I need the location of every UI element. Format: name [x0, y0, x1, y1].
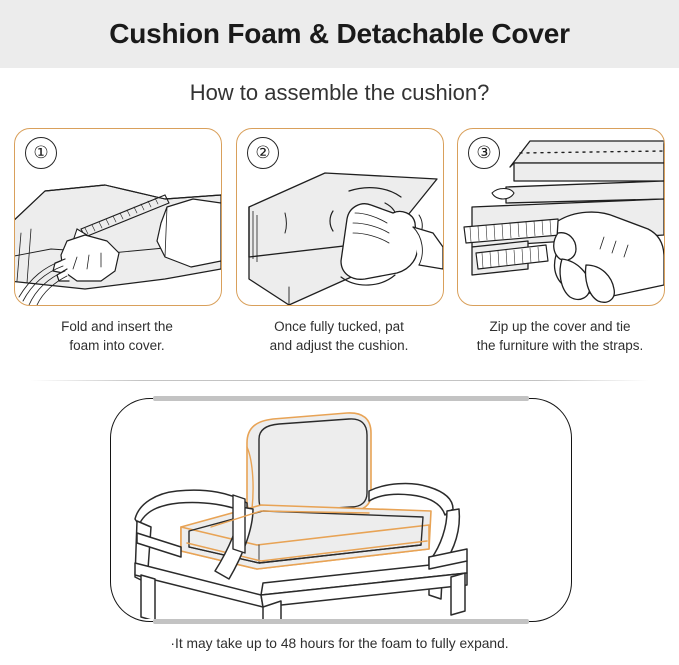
step-1: ① [14, 128, 222, 355]
page-title: Cushion Foam & Detachable Cover [109, 18, 570, 50]
assembly-steps: ① [0, 128, 679, 368]
showcase-bottom-edge [153, 619, 529, 624]
step-2-panel: ② [236, 128, 444, 306]
step-3-caption-line1: Zip up the cover and tie [457, 317, 663, 336]
step-3-caption: Zip up the cover and tie the furniture w… [457, 317, 663, 355]
section-subtitle: How to assemble the cushion? [0, 80, 679, 106]
step-3: ③ [457, 128, 665, 355]
step-1-caption-line1: Fold and insert the [14, 317, 220, 336]
step-1-panel: ① [14, 128, 222, 306]
step-1-caption-line2: foam into cover. [14, 336, 220, 355]
step-1-number: ① [25, 137, 57, 169]
showcase-panel [110, 398, 572, 622]
header-band: Cushion Foam & Detachable Cover [0, 0, 679, 68]
step-3-panel: ③ [457, 128, 665, 306]
step-3-caption-line2: the furniture with the straps. [457, 336, 663, 355]
step-3-number: ③ [468, 137, 500, 169]
step-1-caption: Fold and insert the foam into cover. [14, 317, 220, 355]
armchair-illustration [111, 399, 569, 619]
footer-note: ·It may take up to 48 hours for the foam… [0, 636, 679, 651]
step-2-caption-line1: Once fully tucked, pat [236, 317, 442, 336]
step-2-caption-line2: and adjust the cushion. [236, 336, 442, 355]
step-2-caption: Once fully tucked, pat and adjust the cu… [236, 317, 442, 355]
step-2: ② [236, 128, 444, 355]
step-2-number: ② [247, 137, 279, 169]
section-divider [30, 380, 649, 381]
